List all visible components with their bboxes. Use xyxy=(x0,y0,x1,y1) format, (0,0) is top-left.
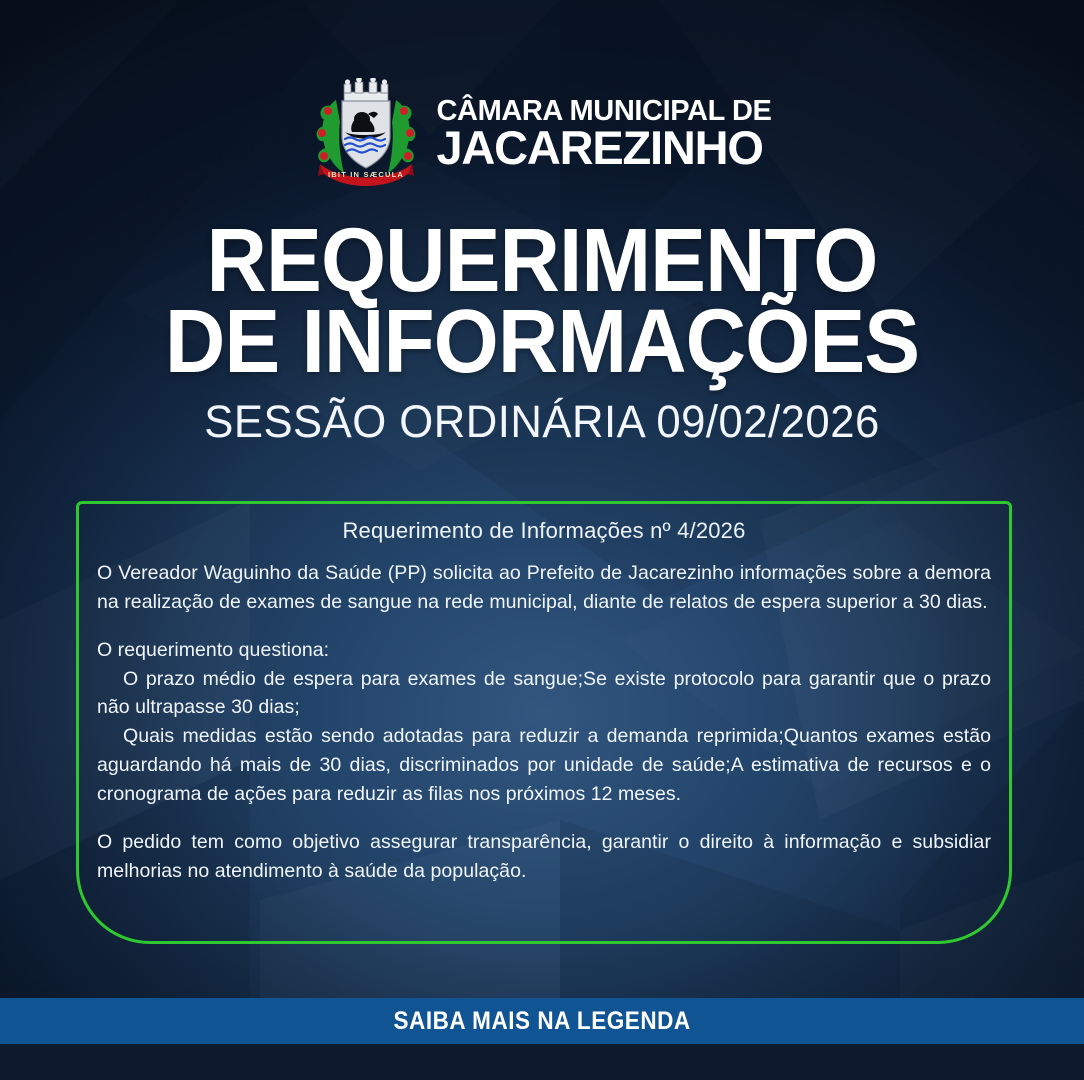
title-line-1: REQUERIMENTO xyxy=(38,222,1046,301)
card-paragraph: O pedido tem como objetivo assegurar tra… xyxy=(97,828,991,886)
page-title: REQUERIMENTO DE INFORMAÇÕES xyxy=(0,222,1084,382)
card-paragraph: O prazo médio de espera para exames de s… xyxy=(97,665,991,723)
card-paragraph: Quais medidas estão sendo adotadas para … xyxy=(97,722,991,809)
card-paragraph: O requerimento questiona: xyxy=(97,636,991,665)
jacarezinho-coat-of-arms-icon: IBIT IN SÆCULA xyxy=(312,78,420,190)
card-heading: Requerimento de Informações nº 4/2026 xyxy=(97,518,991,544)
title-line-2: DE INFORMAÇÕES xyxy=(38,303,1046,382)
brand-header: IBIT IN SÆCULA CÂMARA MUNICIPAL DE JACAR… xyxy=(0,78,1084,190)
footer-banner: SAIBA MAIS NA LEGENDA xyxy=(0,998,1084,1044)
card-paragraph: O Vereador Waguinho da Saúde (PP) solici… xyxy=(97,559,991,617)
poster-canvas: IBIT IN SÆCULA CÂMARA MUNICIPAL DE JACAR… xyxy=(0,0,1084,1080)
card-body: O Vereador Waguinho da Saúde (PP) solici… xyxy=(97,559,991,886)
footer-bottom-strip xyxy=(0,1044,1084,1080)
footer-text: SAIBA MAIS NA LEGENDA xyxy=(393,1007,690,1036)
session-subtitle: SESSÃO ORDINÁRIA 09/02/2026 xyxy=(16,396,1067,448)
brand-line-2: JACAREZINHO xyxy=(436,125,771,171)
brand-wordmark: CÂMARA MUNICIPAL DE JACAREZINHO xyxy=(436,97,771,171)
requirement-card: Requerimento de Informações nº 4/2026 O … xyxy=(76,501,1012,944)
crest-motto-text: IBIT IN SÆCULA xyxy=(329,170,405,179)
